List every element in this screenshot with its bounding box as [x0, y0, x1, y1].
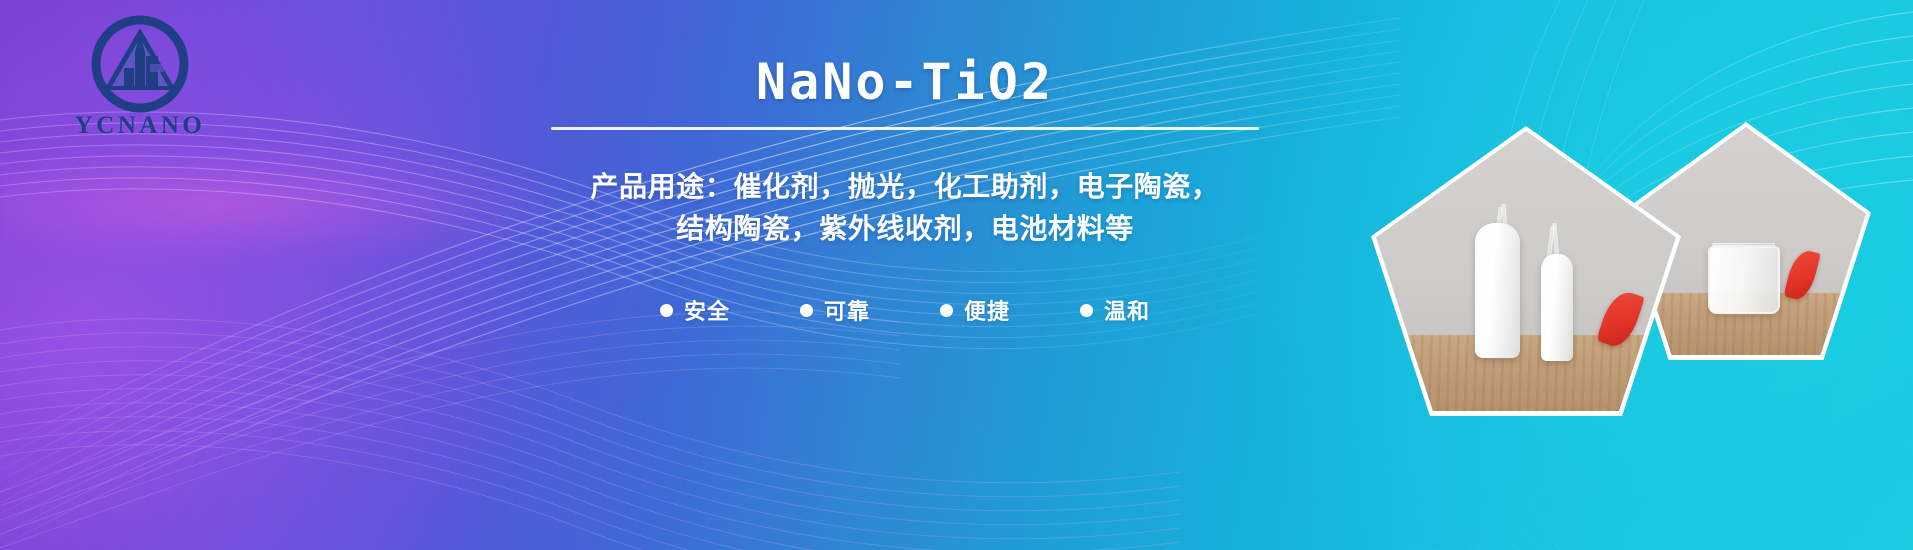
feature-label: 温和: [1104, 294, 1150, 326]
product-banner: YCNANO NaNo-TiO2 产品用途：催化剂，抛光，化工助剂，电子陶瓷， …: [0, 0, 1913, 550]
subtitle-line-1: 产品用途：催化剂，抛光，化工助剂，电子陶瓷，: [470, 166, 1340, 208]
ycnano-mark-icon: [88, 12, 192, 116]
feature-item-1: 安全: [660, 294, 730, 326]
feature-label: 便捷: [964, 294, 1010, 326]
feature-label: 可靠: [824, 294, 870, 326]
product-photo-group: [1353, 0, 1913, 550]
subtitle-line-2: 结构陶瓷，紫外线收剂，电池材料等: [470, 208, 1340, 250]
title-divider: [551, 127, 1259, 130]
bullet-dot-icon: [800, 304, 813, 317]
product-photo-vases: [1371, 126, 1681, 416]
feature-item-4: 温和: [1080, 294, 1150, 326]
feature-item-3: 便捷: [940, 294, 1010, 326]
page-title: NaNo-TiO2: [470, 56, 1340, 109]
logo-wordmark: YCNANO: [75, 112, 206, 140]
feature-list: 安全 可靠 便捷 温和: [470, 294, 1340, 326]
hero-subtitle: 产品用途：催化剂，抛光，化工助剂，电子陶瓷， 结构陶瓷，紫外线收剂，电池材料等: [470, 166, 1340, 250]
bullet-dot-icon: [1080, 304, 1093, 317]
feature-label: 安全: [684, 294, 730, 326]
company-logo[interactable]: YCNANO: [45, 12, 235, 162]
bullet-dot-icon: [940, 304, 953, 317]
bullet-dot-icon: [660, 304, 673, 317]
feature-item-2: 可靠: [800, 294, 870, 326]
hero-content: NaNo-TiO2 产品用途：催化剂，抛光，化工助剂，电子陶瓷， 结构陶瓷，紫外…: [470, 56, 1340, 326]
